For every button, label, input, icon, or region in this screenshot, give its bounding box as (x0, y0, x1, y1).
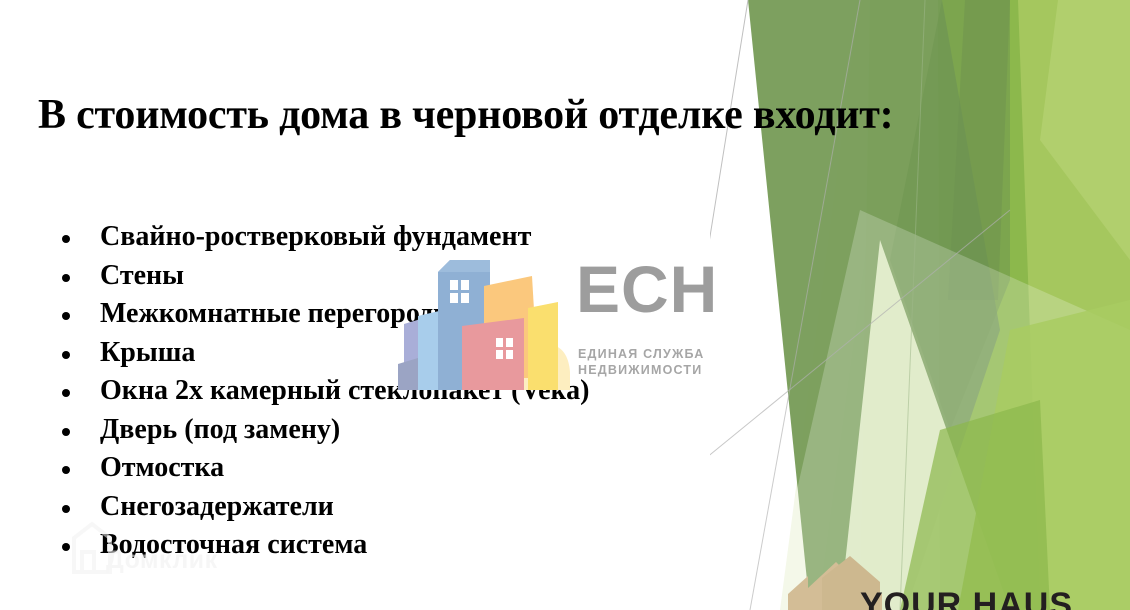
list-item: Крыша (52, 334, 812, 373)
bullet-dot-icon (62, 389, 70, 397)
list-item: Дверь (под замену) (52, 411, 812, 450)
list-item-label: Стены (100, 260, 184, 291)
bullet-dot-icon (62, 505, 70, 513)
feature-list: Свайно-ростверковый фундамент Стены Межк… (52, 218, 812, 565)
list-item: Отмостка (52, 449, 812, 488)
list-item-label: Крыша (100, 337, 195, 368)
bullet-dot-icon (62, 466, 70, 474)
slide-title: В стоимость дома в черновой отделке вход… (38, 88, 908, 142)
list-item-label: Межкомнатные перегородки (100, 298, 465, 329)
bullet-dot-icon (62, 274, 70, 282)
list-item-label: Водосточная система (100, 529, 367, 560)
list-item: Окна 2х камерный стеклопакет (Veka) (52, 372, 812, 411)
bullet-dot-icon (62, 235, 70, 243)
your-haus-logo: YOUR HAUS (788, 548, 1130, 610)
list-item: Свайно-ростверковый фундамент (52, 218, 812, 257)
haus-roof-icon (788, 548, 1130, 610)
bullet-dot-icon (62, 428, 70, 436)
your-haus-wordmark: YOUR HAUS (860, 588, 1073, 610)
list-item: Межкомнатные перегородки (52, 295, 812, 334)
list-item-label: Отмостка (100, 452, 224, 483)
list-item-label: Свайно-ростверковый фундамент (100, 221, 531, 252)
bullet-dot-icon (62, 543, 70, 551)
list-item: Водосточная система (52, 526, 812, 565)
list-item-label: Окна 2х камерный стеклопакет (Veka) (100, 375, 589, 406)
list-item-label: Дверь (под замену) (100, 414, 340, 445)
list-item: Снегозадержатели (52, 488, 812, 527)
list-item: Стены (52, 257, 812, 296)
list-item-label: Снегозадержатели (100, 491, 334, 522)
bullet-dot-icon (62, 312, 70, 320)
bullet-dot-icon (62, 351, 70, 359)
slide-canvas: В стоимость дома в черновой отделке вход… (0, 0, 1130, 610)
